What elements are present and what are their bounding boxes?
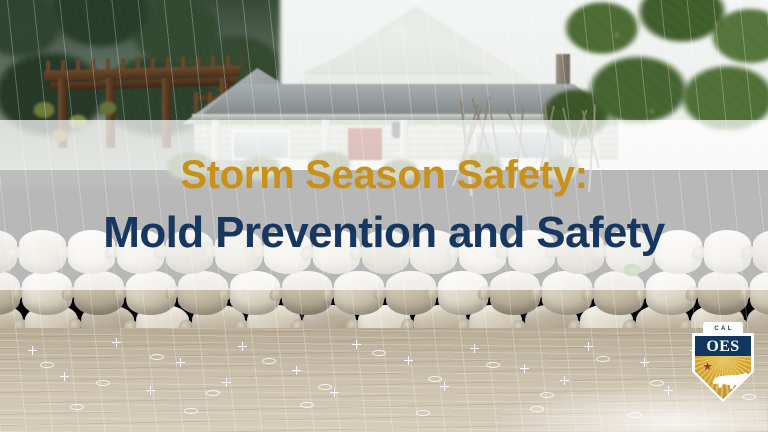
logo-shield-body: OES [695,336,751,399]
logo-cal-text: CAL [712,326,734,332]
storm-safety-banner-graphic: Storm Season Safety: Mold Prevention and… [0,0,768,432]
floodwater [0,328,768,432]
banner-title-line2: Mold Prevention and Safety [103,211,664,255]
logo-oes-text: OES [695,337,751,356]
cal-oes-logo[interactable]: CAL OES [692,322,754,402]
title-banner: Storm Season Safety: Mold Prevention and… [0,120,768,290]
banner-title-line1: Storm Season Safety: [180,155,587,195]
